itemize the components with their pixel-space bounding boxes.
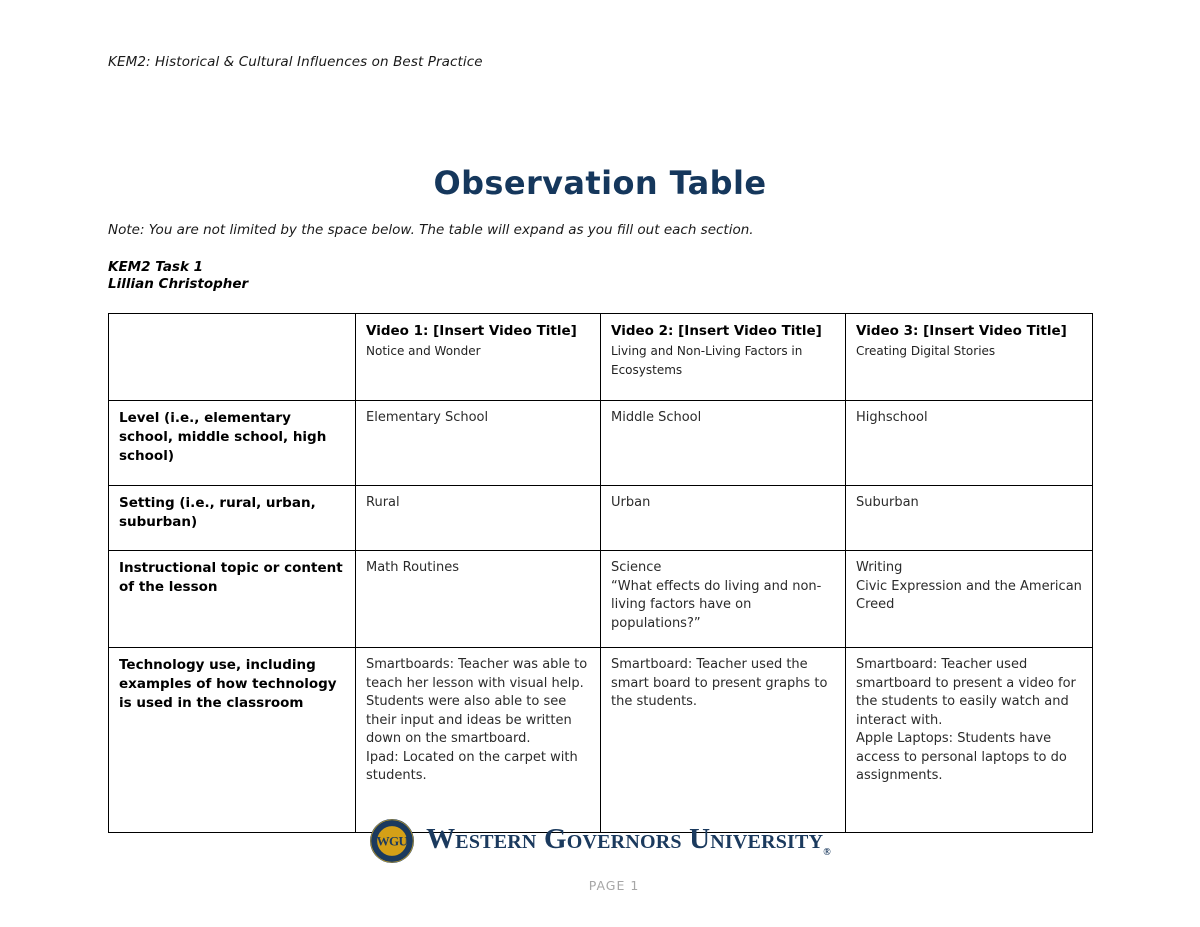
cell-text-line: Elementary School: [366, 409, 591, 428]
running-header: KEM2: Historical & Cultural Influences o…: [108, 54, 483, 70]
student-name: Lillian Christopher: [108, 276, 248, 293]
registered-trademark-icon: ®: [823, 846, 831, 857]
cell-text-line: Apple Laptops: Students have access to p…: [856, 730, 1083, 786]
header-cell-video-3: Video 3: [Insert Video Title] Creating D…: [846, 314, 1093, 401]
cell-level-video-3[interactable]: Highschool: [846, 401, 1093, 486]
cell-text-line: Smartboard: Teacher used the smart board…: [611, 656, 836, 712]
table-header-row: Video 1: [Insert Video Title] Notice and…: [109, 314, 1093, 401]
table-row: Technology use, including examples of ho…: [109, 648, 1093, 833]
page-title: Observation Table: [0, 164, 1200, 202]
table-row: Setting (i.e., rural, urban, suburban) R…: [109, 486, 1093, 551]
cell-text-line: Math Routines: [366, 559, 591, 578]
cell-setting-video-1[interactable]: Rural: [356, 486, 601, 551]
cell-text-line: Urban: [611, 494, 836, 513]
document-page: KEM2: Historical & Cultural Influences o…: [0, 0, 1200, 927]
logo-wordmark-text: Western Governors University: [426, 823, 823, 855]
cell-setting-video-3[interactable]: Suburban: [846, 486, 1093, 551]
task-line: KEM2 Task 1: [108, 259, 248, 276]
cell-text-line: Suburban: [856, 494, 1083, 513]
task-identification-block: KEM2 Task 1 Lillian Christopher: [108, 259, 248, 293]
table-row: Level (i.e., elementary school, middle s…: [109, 401, 1093, 486]
row-label-instructional-topic: Instructional topic or content of the le…: [109, 551, 356, 648]
row-label-level: Level (i.e., elementary school, middle s…: [109, 401, 356, 486]
cell-topic-video-3[interactable]: Writing Civic Expression and the America…: [846, 551, 1093, 648]
cell-text-line: Middle School: [611, 409, 836, 428]
cell-text-line: Writing: [856, 559, 1083, 578]
svg-text:WGU: WGU: [377, 833, 409, 848]
page-footer: PAGE 1: [0, 878, 1200, 893]
video-1-title-value: Notice and Wonder: [366, 344, 481, 358]
cell-text-line: Smartboards: Teacher was able to teach h…: [366, 656, 591, 749]
video-3-title-value: Creating Digital Stories: [856, 344, 995, 358]
wgu-logo: WGU Western Governors University®: [0, 818, 1200, 864]
observation-table: Video 1: [Insert Video Title] Notice and…: [108, 313, 1093, 833]
row-label-setting: Setting (i.e., rural, urban, suburban): [109, 486, 356, 551]
cell-technology-video-3[interactable]: Smartboard: Teacher used smartboard to p…: [846, 648, 1093, 833]
header-cell-video-2: Video 2: [Insert Video Title] Living and…: [601, 314, 846, 401]
cell-text-line: “What effects do living and non-living f…: [611, 578, 836, 634]
cell-topic-video-1[interactable]: Math Routines: [356, 551, 601, 648]
instructions-note: Note: You are not limited by the space b…: [108, 222, 754, 238]
cell-text-line: Science: [611, 559, 836, 578]
row-label-technology-use: Technology use, including examples of ho…: [109, 648, 356, 833]
cell-level-video-1[interactable]: Elementary School: [356, 401, 601, 486]
cell-text-line: Civic Expression and the American Creed: [856, 578, 1083, 615]
cell-setting-video-2[interactable]: Urban: [601, 486, 846, 551]
cell-text-line: Rural: [366, 494, 591, 513]
cell-text-line: Smartboard: Teacher used smartboard to p…: [856, 656, 1083, 730]
logo-inner: WGU Western Governors University®: [369, 818, 831, 864]
header-cell-video-1: Video 1: [Insert Video Title] Notice and…: [356, 314, 601, 401]
cell-level-video-2[interactable]: Middle School: [601, 401, 846, 486]
cell-topic-video-2[interactable]: Science “What effects do living and non-…: [601, 551, 846, 648]
table-row: Instructional topic or content of the le…: [109, 551, 1093, 648]
logo-wordmark: Western Governors University®: [426, 825, 831, 858]
cell-technology-video-1[interactable]: Smartboards: Teacher was able to teach h…: [356, 648, 601, 833]
cell-text-line: Ipad: Located on the carpet with student…: [366, 749, 591, 786]
video-1-title-placeholder: Video 1: [Insert Video Title]: [366, 323, 577, 339]
video-3-title-placeholder: Video 3: [Insert Video Title]: [856, 323, 1067, 339]
header-cell-blank: [109, 314, 356, 401]
cell-text-line: Highschool: [856, 409, 1083, 428]
video-2-title-placeholder: Video 2: [Insert Video Title]: [611, 323, 822, 339]
cell-technology-video-2[interactable]: Smartboard: Teacher used the smart board…: [601, 648, 846, 833]
wgu-seal-icon: WGU: [369, 818, 415, 864]
video-2-title-value: Living and Non-Living Factors in Ecosyst…: [611, 344, 802, 378]
